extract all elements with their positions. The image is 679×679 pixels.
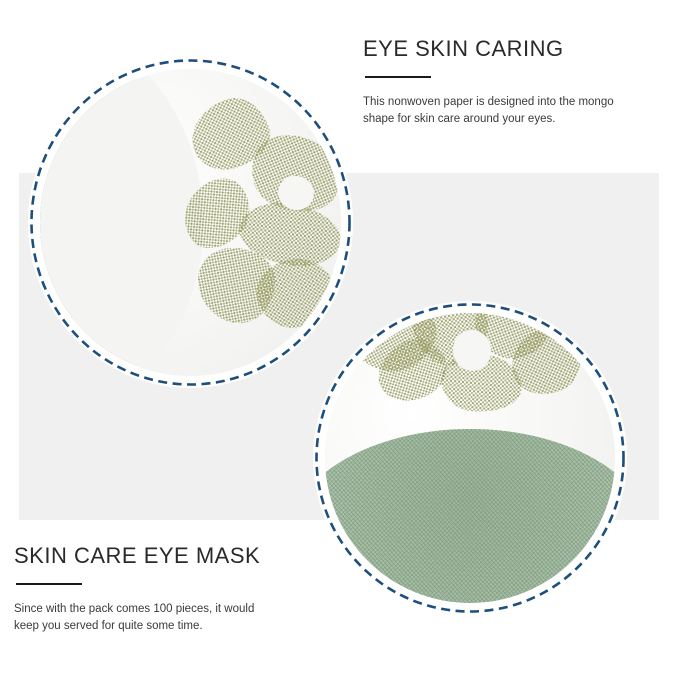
section-body: This nonwoven paper is designed into the… — [363, 94, 618, 128]
product-infographic: EYE SKIN CARING This nonwoven paper is d… — [0, 0, 679, 679]
eye-mask-closeup-bottom-right — [313, 301, 627, 615]
heading-divider — [16, 583, 82, 585]
section-body: Since with the pack comes 100 pieces, it… — [14, 601, 264, 635]
section-heading: SKIN CARE EYE MASK — [14, 543, 264, 569]
mask-photo-top-left — [40, 69, 341, 376]
green-woven-band — [325, 429, 615, 603]
eye-skin-caring-section: EYE SKIN CARING This nonwoven paper is d… — [363, 36, 618, 128]
section-heading: EYE SKIN CARING — [363, 36, 618, 62]
mask-photo-bottom-right — [325, 313, 615, 603]
skin-care-eye-mask-section: SKIN CARE EYE MASK Since with the pack c… — [14, 543, 264, 635]
heading-divider — [365, 76, 431, 78]
eye-mask-closeup-top-left — [28, 57, 353, 388]
